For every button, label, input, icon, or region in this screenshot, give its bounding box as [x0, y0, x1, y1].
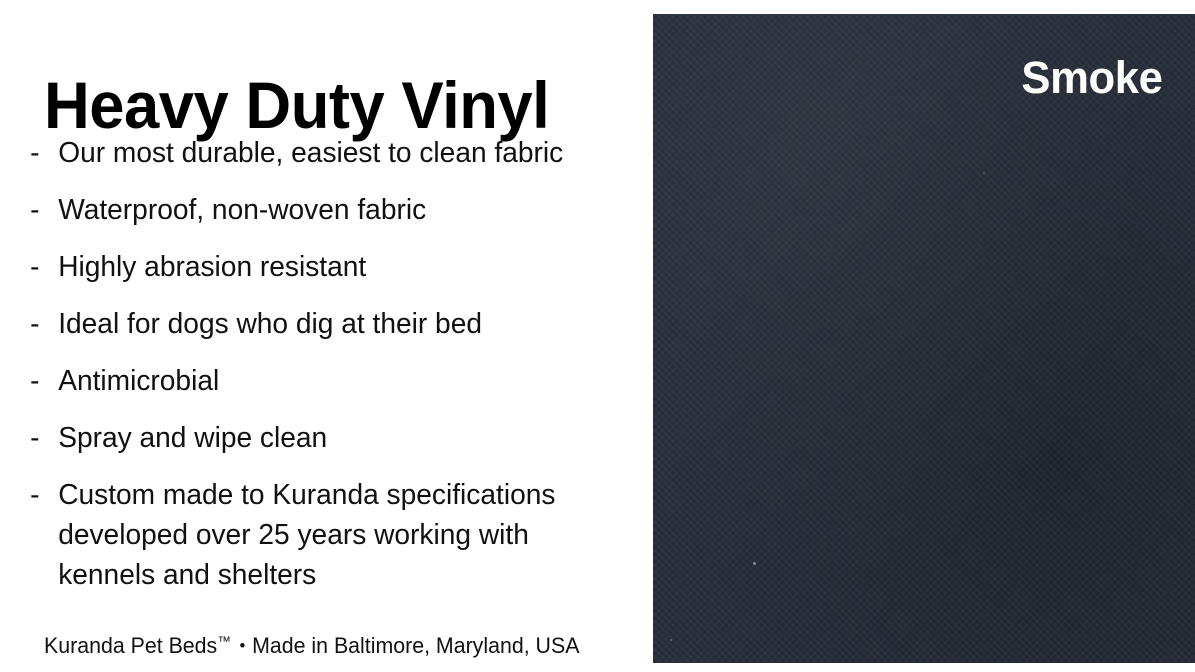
list-item: - Antimicrobial [0, 361, 621, 401]
list-item-label: Antimicrobial [58, 365, 219, 397]
list-item-label: Spray and wipe clean [58, 422, 327, 454]
lint-speck [670, 639, 672, 641]
list-item: - Custom made to Kuranda specifications … [0, 475, 621, 595]
trademark-icon: ™ [217, 633, 231, 649]
bullet-dash-icon: - [30, 304, 39, 344]
list-item-label: Ideal for dogs who dig at their bed [58, 308, 482, 340]
bullet-dash-icon: - [30, 133, 39, 173]
lint-speck [983, 172, 985, 174]
lint-speck [753, 562, 756, 565]
list-item-label: Highly abrasion resistant [58, 251, 366, 283]
page-title: Heavy Duty Vinyl [44, 72, 549, 138]
list-item: - Ideal for dogs who dig at their bed [0, 304, 621, 344]
list-item: - Spray and wipe clean [0, 418, 621, 458]
bullet-dash-icon: - [30, 418, 39, 458]
product-feature-slide: Heavy Duty Vinyl - Our most durable, eas… [0, 0, 1195, 672]
feature-list: - Our most durable, easiest to clean fab… [0, 133, 640, 595]
bullet-dash-icon: - [30, 475, 39, 515]
fabric-texture [653, 14, 1195, 663]
content-panel: Heavy Duty Vinyl - Our most durable, eas… [0, 0, 653, 672]
brand-name: Kuranda Pet Beds [44, 633, 217, 658]
list-item: - Our most durable, easiest to clean fab… [0, 133, 621, 173]
list-item: - Highly abrasion resistant [0, 247, 621, 287]
footer-attribution: Kuranda Pet Beds™•Made in Baltimore, Mar… [44, 627, 579, 660]
swatch-color-label: Smoke [1022, 54, 1163, 101]
list-item-label: Our most durable, easiest to clean fabri… [58, 137, 563, 169]
bullet-dash-icon: - [30, 361, 39, 401]
list-item-label: Waterproof, non-woven fabric [58, 194, 426, 226]
separator-dot-icon: • [231, 632, 252, 660]
fabric-swatch-image: Smoke [653, 14, 1195, 663]
origin-text: Made in Baltimore, Maryland, USA [252, 633, 579, 658]
list-item-label: Custom made to Kuranda specifications de… [58, 479, 555, 591]
list-item: - Waterproof, non-woven fabric [0, 190, 621, 230]
bullet-dash-icon: - [30, 247, 39, 287]
bullet-dash-icon: - [30, 190, 39, 230]
